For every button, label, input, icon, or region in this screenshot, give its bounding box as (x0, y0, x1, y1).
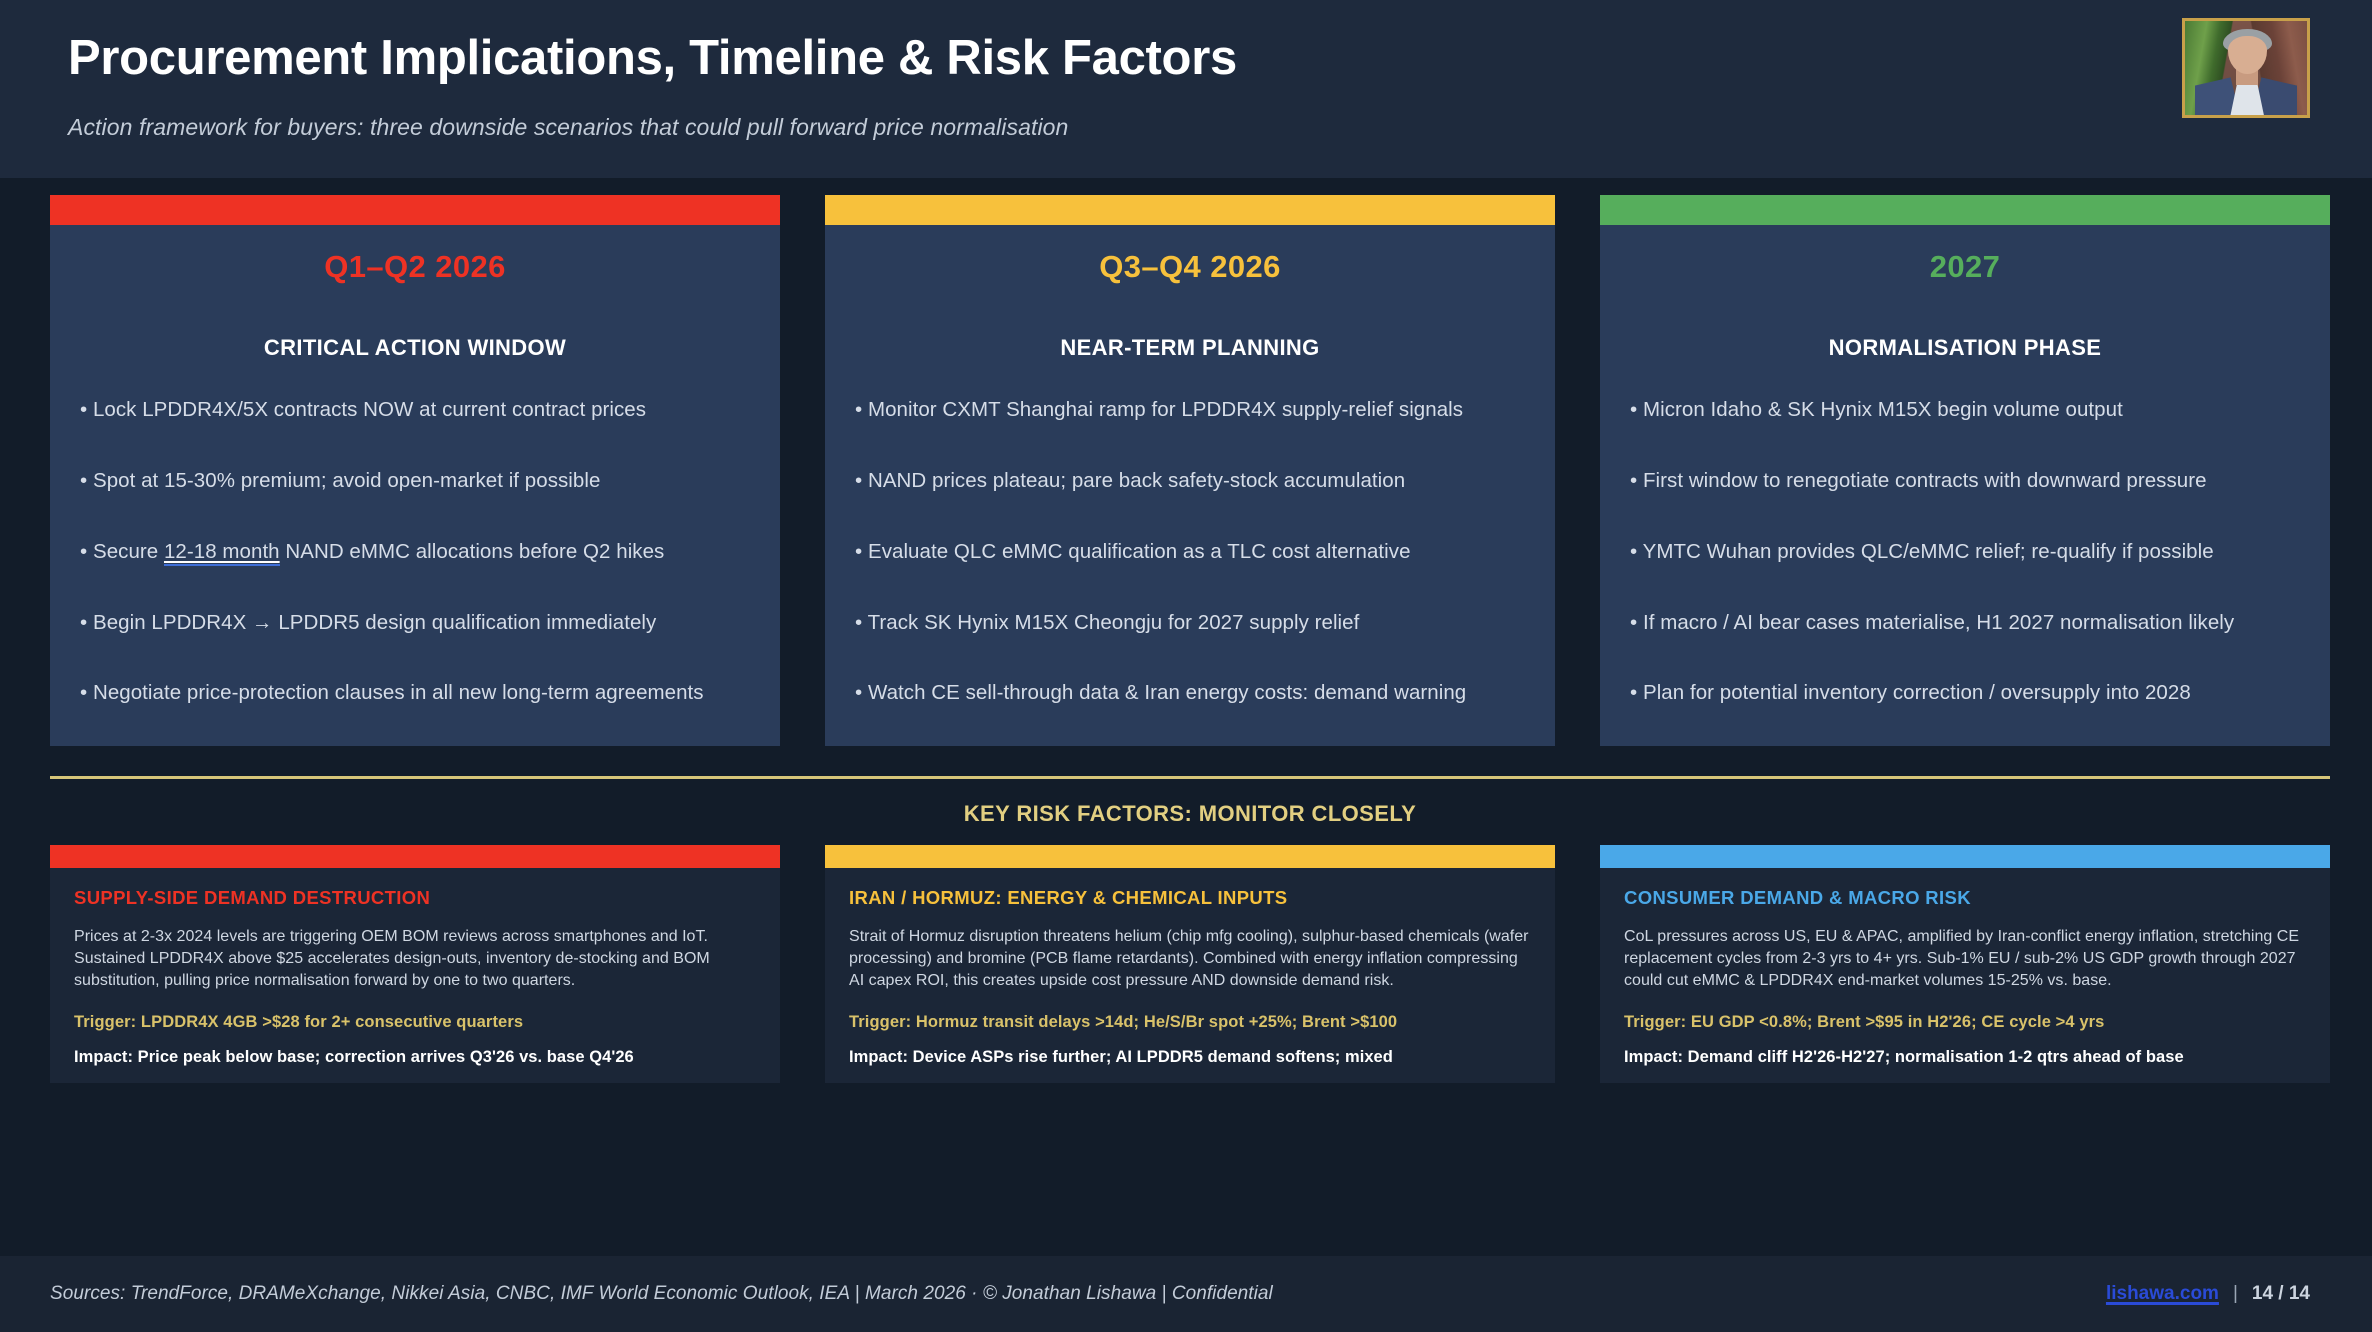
timeline-bullet-list: • Micron Idaho & SK Hynix M15X begin vol… (1630, 397, 2300, 712)
timeline-row: Q1–Q2 2026 CRITICAL ACTION WINDOW • Lock… (0, 178, 2372, 746)
risk-card-description: CoL pressures across US, EU & APAC, ampl… (1624, 926, 2306, 992)
timeline-card-body: 2027 NORMALISATION PHASE • Micron Idaho … (1600, 225, 2330, 746)
list-item: • Plan for potential inventory correctio… (1630, 680, 2300, 706)
bullet-post-text: NAND eMMC allocations before Q2 hikes (280, 540, 665, 563)
list-item: • Watch CE sell-through data & Iran ener… (855, 680, 1525, 706)
bullet-underlined-text: 12-18 month (164, 540, 280, 566)
list-item: • Secure 12-18 month NAND eMMC allocatio… (80, 539, 750, 565)
risk-card-title: SUPPLY-SIDE DEMAND DESTRUCTION (74, 887, 756, 909)
risk-card-title: IRAN / HORMUZ: ENERGY & CHEMICAL INPUTS (849, 887, 1531, 909)
risk-accent-bar (1600, 845, 2330, 868)
timeline-bullet-list: • Monitor CXMT Shanghai ramp for LPDDR4X… (855, 397, 1525, 712)
risk-card-impact: Impact: Demand cliff H2'26-H2'27; normal… (1624, 1048, 2306, 1067)
timeline-accent-bar (825, 195, 1555, 225)
list-item: • First window to renegotiate contracts … (1630, 468, 2300, 494)
timeline-card-body: Q1–Q2 2026 CRITICAL ACTION WINDOW • Lock… (50, 225, 780, 746)
footer-sources: Sources: TrendForce, DRAMeXchange, Nikke… (50, 1283, 1273, 1305)
list-item: • YMTC Wuhan provides QLC/eMMC relief; r… (1630, 539, 2300, 565)
risk-card-body: CONSUMER DEMAND & MACRO RISK CoL pressur… (1600, 868, 2330, 1083)
timeline-accent-bar (50, 195, 780, 225)
avatar-face (2228, 36, 2267, 74)
timeline-phase-label: NORMALISATION PHASE (1630, 335, 2300, 361)
list-item: • Monitor CXMT Shanghai ramp for LPDDR4X… (855, 397, 1525, 423)
bullet-pre-text: • Secure (80, 540, 164, 563)
list-item: • If macro / AI bear cases materialise, … (1630, 610, 2300, 636)
avatar-photo (2185, 21, 2307, 115)
risk-card-trigger: Trigger: EU GDP <0.8%; Brent >$95 in H2'… (1624, 1013, 2306, 1048)
risk-card-description: Strait of Hormuz disruption threatens he… (849, 926, 1531, 992)
footer-website-link[interactable]: lishawa.com (2106, 1283, 2219, 1305)
page-number: 14 / 14 (2252, 1283, 2310, 1305)
risk-card-supply-side-demand-destruction: SUPPLY-SIDE DEMAND DESTRUCTION Prices at… (50, 845, 780, 1083)
list-item: • Evaluate QLC eMMC qualification as a T… (855, 539, 1525, 565)
timeline-card-q3q4-2026: Q3–Q4 2026 NEAR-TERM PLANNING • Monitor … (825, 195, 1555, 746)
list-item: • Spot at 15-30% premium; avoid open-mar… (80, 468, 750, 494)
slide-header: Procurement Implications, Timeline & Ris… (0, 0, 2372, 178)
risk-accent-bar (825, 845, 1555, 868)
risk-card-consumer-demand-macro: CONSUMER DEMAND & MACRO RISK CoL pressur… (1600, 845, 2330, 1083)
timeline-card-q1q2-2026: Q1–Q2 2026 CRITICAL ACTION WINDOW • Lock… (50, 195, 780, 746)
timeline-phase-label: CRITICAL ACTION WINDOW (80, 335, 750, 361)
footer-separator: | (2233, 1283, 2238, 1305)
risk-card-description: Prices at 2-3x 2024 levels are triggerin… (74, 926, 756, 992)
risk-section-heading: KEY RISK FACTORS: MONITOR CLOSELY (50, 779, 2330, 827)
risk-row: SUPPLY-SIDE DEMAND DESTRUCTION Prices at… (0, 827, 2372, 1083)
risk-card-impact: Impact: Device ASPs rise further; AI LPD… (849, 1048, 1531, 1067)
timeline-card-2027: 2027 NORMALISATION PHASE • Micron Idaho … (1600, 195, 2330, 746)
avatar (2182, 18, 2310, 118)
page-subtitle: Action framework for buyers: three downs… (68, 86, 2312, 141)
risk-card-trigger: Trigger: Hormuz transit delays >14d; He/… (849, 1013, 1531, 1048)
risk-card-body: IRAN / HORMUZ: ENERGY & CHEMICAL INPUTS … (825, 868, 1555, 1083)
risk-divider-wrap: KEY RISK FACTORS: MONITOR CLOSELY (0, 746, 2372, 827)
timeline-period-label: Q1–Q2 2026 (80, 249, 750, 285)
list-item: • Lock LPDDR4X/5X contracts NOW at curre… (80, 397, 750, 423)
risk-card-trigger: Trigger: LPDDR4X 4GB >$28 for 2+ consecu… (74, 1013, 756, 1048)
timeline-period-label: Q3–Q4 2026 (855, 249, 1525, 285)
list-item: • Negotiate price-protection clauses in … (80, 680, 750, 706)
slide-root: Procurement Implications, Timeline & Ris… (0, 0, 2372, 1332)
risk-accent-bar (50, 845, 780, 868)
risk-card-title: CONSUMER DEMAND & MACRO RISK (1624, 887, 2306, 909)
risk-card-body: SUPPLY-SIDE DEMAND DESTRUCTION Prices at… (50, 868, 780, 1083)
list-item: • NAND prices plateau; pare back safety-… (855, 468, 1525, 494)
list-item: • Track SK Hynix M15X Cheongju for 2027 … (855, 610, 1525, 636)
slide-footer: Sources: TrendForce, DRAMeXchange, Nikke… (0, 1256, 2372, 1332)
timeline-phase-label: NEAR-TERM PLANNING (855, 335, 1525, 361)
footer-meta: lishawa.com | 14 / 14 (2106, 1283, 2310, 1305)
risk-card-impact: Impact: Price peak below base; correctio… (74, 1048, 756, 1067)
list-item: • Micron Idaho & SK Hynix M15X begin vol… (1630, 397, 2300, 423)
risk-card-iran-hormuz: IRAN / HORMUZ: ENERGY & CHEMICAL INPUTS … (825, 845, 1555, 1083)
timeline-card-body: Q3–Q4 2026 NEAR-TERM PLANNING • Monitor … (825, 225, 1555, 746)
list-item: • Begin LPDDR4X → LPDDR5 design qualific… (80, 610, 750, 636)
page-title: Procurement Implications, Timeline & Ris… (68, 18, 2312, 86)
timeline-bullet-list: • Lock LPDDR4X/5X contracts NOW at curre… (80, 397, 750, 712)
timeline-accent-bar (1600, 195, 2330, 225)
timeline-period-label: 2027 (1630, 249, 2300, 285)
